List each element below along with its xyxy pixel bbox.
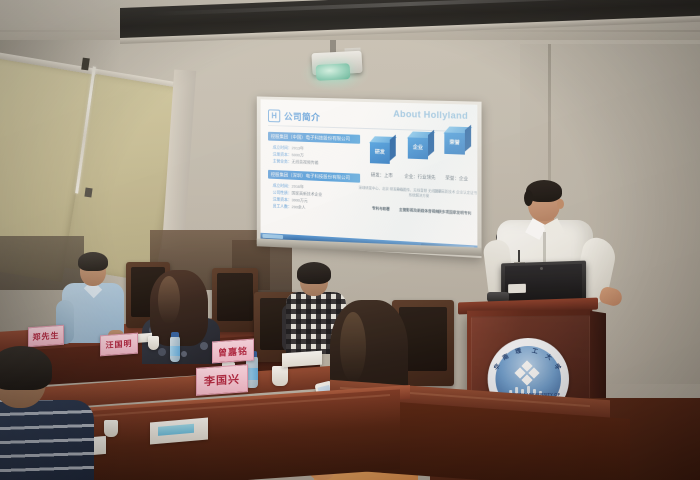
slide-title-en: About Hollyland [393,109,468,121]
paper-sheet[interactable] [282,351,322,368]
company-1-row-1: 注册资本：5000万 [273,151,304,158]
emblem-chinese-name: 华 南 理 工 大 学 [490,344,567,394]
paper-cup[interactable] [148,336,159,350]
cube-3-side [465,125,471,152]
slide-title-row: H 公司简介 [268,109,320,123]
attendee-hair [0,346,52,390]
name-card: 曾嘉铭 [212,339,254,364]
cube-2-side [428,130,434,157]
cube-2-label: 企业 [408,137,428,159]
name-card: 李国兴 [196,364,248,396]
cube-2: 企业 [408,133,434,160]
cube-3: 荣誉 [444,128,471,156]
left-cabinet [0,236,84,290]
attendee-hair [78,252,108,271]
cube-3-label: 荣誉 [444,132,465,154]
paper-blue-block [158,424,194,436]
blind-cord-clip-bottom [84,188,92,198]
company-block-2-header: 控股集团（深圳）电子科技股份有限公司 [268,170,360,183]
hollyland-logo-icon: H [268,109,280,122]
speaker-hair-side [524,190,533,206]
company-1-row-2: 主营业务：无线音视频传输 [273,158,319,166]
attendee-hair [297,262,331,284]
laptop-screen[interactable] [505,264,582,301]
slide-divider [268,125,469,132]
company-2-row-3: 员工人数：200余人 [273,203,306,211]
attendee-hair-highlight [158,276,180,324]
speaker-ear [557,199,564,209]
cube-1-side [390,135,396,161]
bottle-label [170,346,180,356]
bottle-cap [171,332,179,337]
attendee-torso [0,400,94,480]
projection-screen[interactable]: H 公司简介 About Hollyland 控股集团（中国）电子科技股份有限公… [261,99,478,251]
company-1-row-0: 成立时间：2013年 [273,145,304,152]
cube-3-footer: 获多项国家发明专利 [428,209,477,217]
conference-room-photo: H 公司简介 About Hollyland 控股集团（中国）电子科技股份有限公… [0,0,700,480]
attendee-hair-highlight [340,312,366,382]
cube-1-label: 研发 [370,142,390,164]
name-card: 郑先生 [28,325,64,348]
paper-cup[interactable] [104,420,118,437]
slide-title-cn: 公司简介 [284,110,320,124]
chair-back-pad [217,273,253,321]
paper-cup[interactable] [272,366,288,386]
projector-lens-icon [316,63,351,81]
name-card: 汪国明 [100,333,138,357]
cube-1: 研发 [370,138,396,165]
slide-canvas: H 公司简介 About Hollyland 控股集团（中国）电子科技股份有限公… [261,99,478,251]
stripe-pattern [0,400,94,480]
laptop-webcam-icon [540,267,543,270]
company-block-1-header: 控股集团（中国）电子科技股份有限公司 [268,132,360,144]
cube-3-heading: 荣誉：企业 [434,175,477,183]
laptop-sticker [508,284,526,293]
